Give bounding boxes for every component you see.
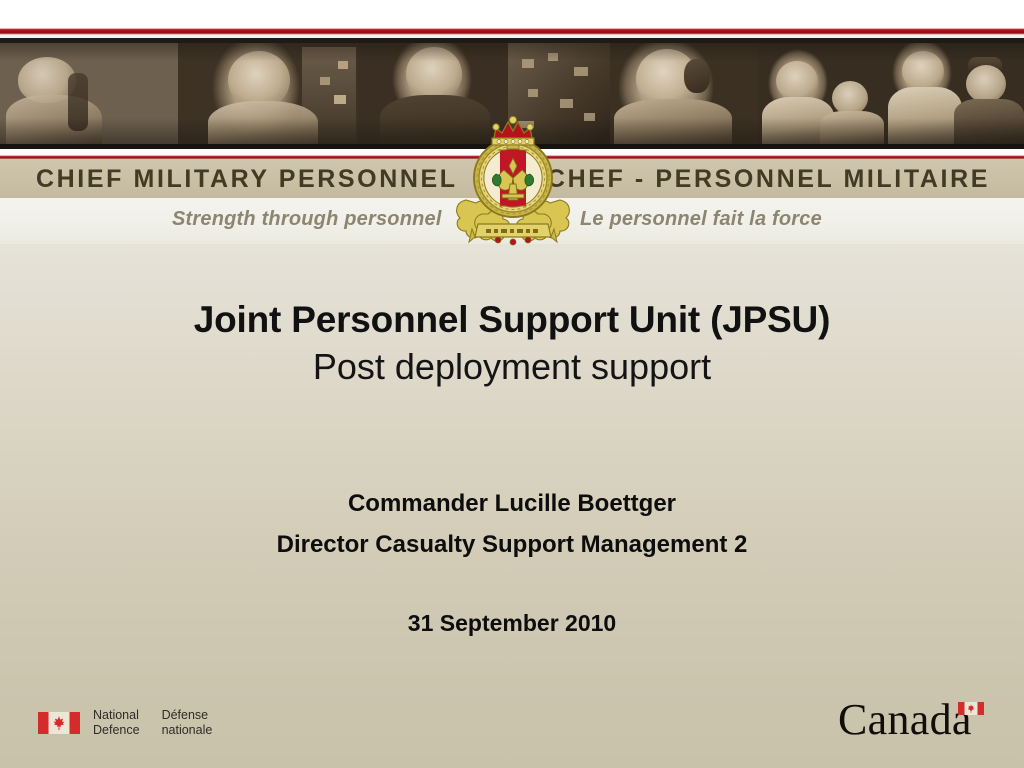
- slide-title: Joint Personnel Support Unit (JPSU): [0, 299, 1024, 341]
- top-white-margin: [0, 0, 1024, 28]
- photo-detail: [684, 59, 710, 93]
- banner-photo-soldier-with-comms-headset: [0, 43, 178, 144]
- canada-wordmark-text: Canada: [838, 698, 972, 742]
- dnd-fr-line1: Défense: [162, 708, 213, 723]
- cmp-crest-icon: [452, 104, 574, 246]
- photo-detail: [966, 65, 1006, 103]
- canada-wordmark: Canada: [838, 700, 990, 746]
- tagline-french: Le personnel fait la force: [580, 208, 822, 231]
- photo-detail: [208, 101, 318, 144]
- photo-detail: [68, 73, 88, 131]
- dnd-wordmark-text: National Defence Défense nationale: [93, 708, 212, 737]
- presenter-name: Commander Lucille Boettger: [0, 490, 1024, 518]
- dnd-french: Défense nationale: [162, 708, 213, 737]
- canada-flag-icon: [38, 712, 80, 734]
- brand-title-french: CHEF - PERSONNEL MILITAIRE: [547, 165, 990, 194]
- photo-detail: [614, 99, 732, 144]
- tagline-english: Strength through personnel: [172, 208, 442, 231]
- photo-detail: [832, 81, 868, 115]
- canada-flag-icon: [958, 702, 984, 715]
- banner-photo-servicewoman-at-control-console: [178, 43, 358, 144]
- photo-detail: [406, 47, 462, 101]
- photo-detail: [954, 99, 1024, 144]
- dnd-en-line2: Defence: [93, 723, 140, 738]
- dnd-fr-line2: nationale: [162, 723, 213, 738]
- photo-detail: [902, 51, 944, 91]
- banner-photo-pilot-with-headset: [610, 43, 758, 144]
- presentation-date: 31 September 2010: [0, 610, 1024, 637]
- dnd-en-line1: National: [93, 708, 140, 723]
- top-red-rule: [0, 28, 1024, 35]
- banner-photo-civilian-youths: [758, 43, 886, 144]
- banner-photo-two-soldiers-in-uniform: [886, 43, 1024, 144]
- brand-title-english: CHIEF MILITARY PERSONNEL: [36, 165, 458, 194]
- dnd-english: National Defence: [93, 708, 140, 737]
- title-slide: CHIEF MILITARY PERSONNEL CHEF - PERSONNE…: [0, 0, 1024, 768]
- photo-detail: [888, 87, 962, 144]
- presenter-role: Director Casualty Support Management 2: [0, 531, 1024, 559]
- slide-subtitle: Post deployment support: [0, 346, 1024, 388]
- dnd-signature: National Defence Défense nationale: [38, 708, 212, 737]
- photo-detail: [820, 111, 884, 144]
- photo-detail: [776, 61, 818, 101]
